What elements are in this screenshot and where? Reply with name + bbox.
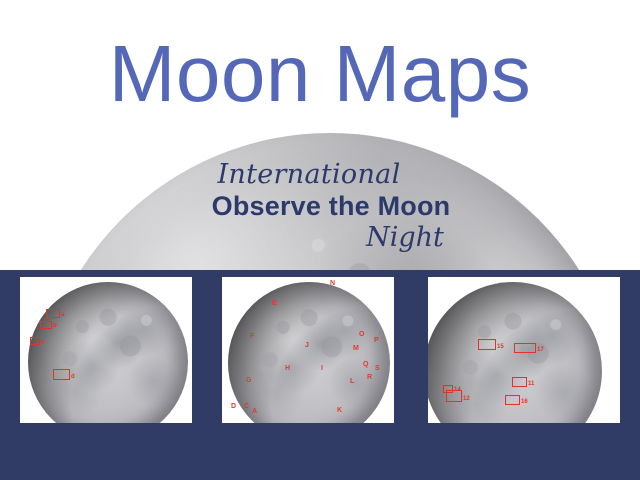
- annotation-box: [514, 343, 536, 353]
- annotation-letter: S: [375, 365, 380, 372]
- subtitle-line-3: Night: [170, 222, 640, 254]
- thumbnail-apollo-landing-sites[interactable]: 151711161214: [428, 277, 620, 423]
- annotation-letter: O: [359, 331, 364, 338]
- annotation-box: [40, 321, 52, 329]
- annotation-letter: K: [337, 407, 342, 414]
- annotation-letter: N: [330, 280, 335, 287]
- annotation-letter: R: [367, 374, 372, 381]
- thumbnail-maria[interactable]: NEFJOPMHIQSRLGDCAK: [222, 277, 394, 423]
- annotation-letter: E: [272, 300, 277, 307]
- moon-maps-slide: Moon Maps International Observe the Moon…: [0, 0, 640, 480]
- annotation-label: 16: [521, 399, 528, 405]
- annotation-box: [443, 385, 453, 393]
- annotation-letter: I: [321, 365, 323, 372]
- annotation-label: 12: [463, 396, 470, 402]
- annotation-label: 14: [454, 387, 461, 393]
- annotation-letter: H: [285, 365, 290, 372]
- annotation-letter: Q: [363, 361, 368, 368]
- thumbnail-telescopic-landforms[interactable]: abcd: [20, 277, 192, 423]
- annotation-box: [53, 369, 70, 380]
- annotation-label: c: [41, 339, 44, 345]
- thumbnail-moon-disc: [228, 282, 390, 423]
- annotation-label: a: [61, 312, 64, 318]
- annotation-letter: D: [231, 403, 236, 410]
- annotation-letter: L: [350, 378, 354, 385]
- annotation-box: [512, 377, 527, 387]
- annotation-box: [478, 339, 496, 350]
- annotation-letter: P: [374, 337, 379, 344]
- annotation-box: [30, 337, 40, 345]
- thumbnail-row: abcd NEFJOPMHIQSRLGDCAK 151711161214: [0, 277, 640, 423]
- subtitle-line-2: Observe the Moon: [22, 190, 640, 222]
- annotation-letter: F: [250, 333, 254, 340]
- annotation-label: b: [53, 323, 57, 329]
- thumbnail-band: abcd NEFJOPMHIQSRLGDCAK 151711161214 Tel…: [0, 270, 640, 480]
- annotation-letter: G: [246, 377, 251, 384]
- annotation-letter: C: [244, 403, 249, 410]
- annotation-label: 15: [497, 344, 504, 350]
- page-title: Moon Maps: [0, 34, 640, 114]
- annotation-label: 17: [537, 347, 544, 353]
- subtitle-block: International Observe the Moon Night: [0, 160, 640, 254]
- annotation-letter: A: [252, 408, 257, 415]
- annotation-box: [46, 309, 60, 318]
- annotation-letter: J: [305, 342, 309, 349]
- annotation-label: 11: [528, 381, 534, 387]
- subtitle-line-1: International: [0, 160, 640, 190]
- annotation-letter: M: [353, 345, 359, 352]
- annotation-box: [505, 395, 520, 405]
- annotation-label: d: [71, 374, 75, 380]
- thumbnail-moon-disc: [28, 282, 188, 423]
